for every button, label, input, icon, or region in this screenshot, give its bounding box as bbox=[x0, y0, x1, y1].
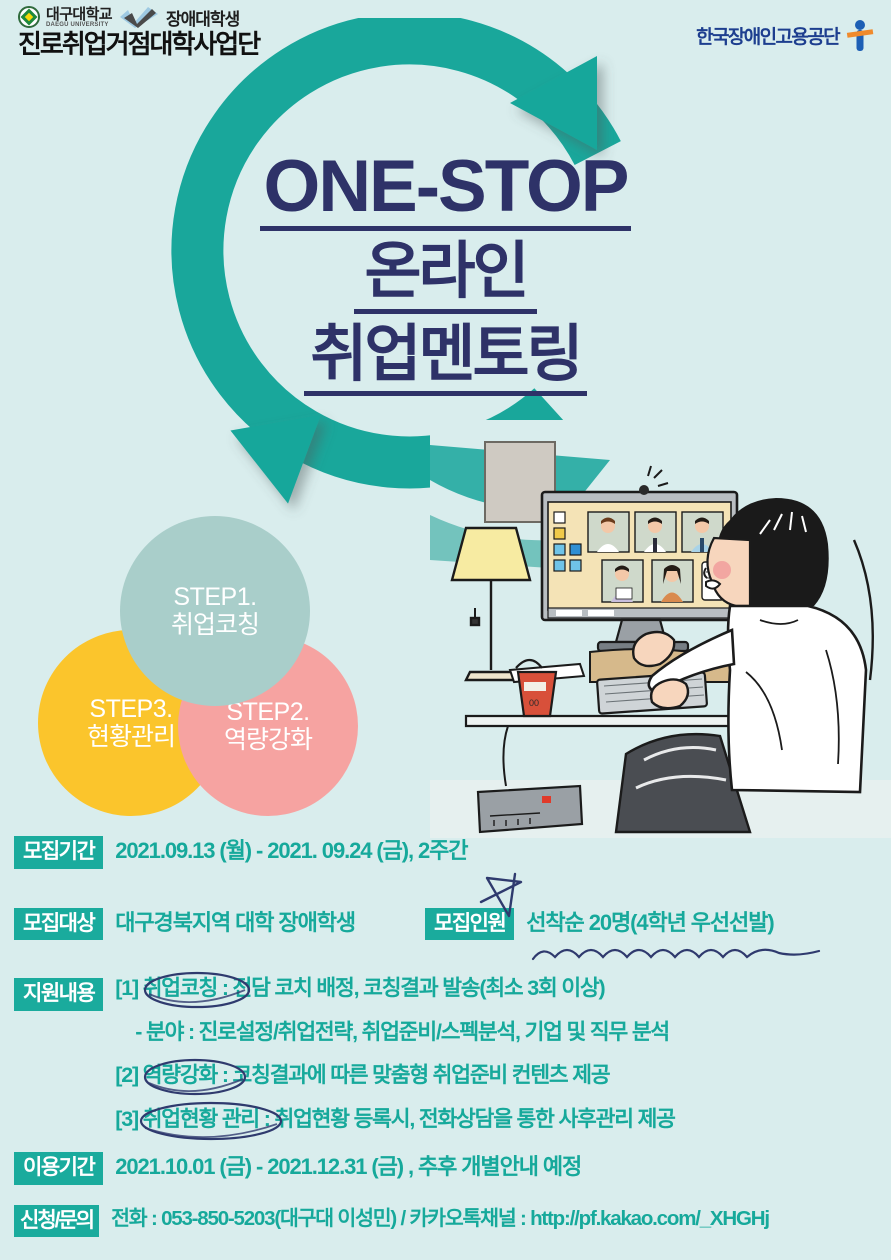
step-2-label-ko: 역량강화 bbox=[224, 726, 312, 755]
partner-label: 장애대학생 bbox=[166, 5, 239, 30]
value-apply-contact[interactable]: 전화 : 053-850-5203(대구대 이성민) / 카카오톡채널 : ht… bbox=[111, 1205, 769, 1231]
info-row-support: 지원내용 [1] 취업코칭 : 전담 코치 배정, 코칭결과 발송(최소 3회 … bbox=[0, 978, 891, 1130]
university-name: 대구대학교 DAEGU UNIVERSITY bbox=[46, 7, 112, 28]
title-line-mentoring: 취업멘토링 bbox=[304, 320, 586, 396]
title-line-one-stop: ONE-STOP bbox=[260, 152, 632, 231]
label-recruit-period: 모집기간 bbox=[14, 836, 103, 869]
value-recruit-quota: 선착순 20명(4학년 우선선발) bbox=[526, 908, 773, 936]
daegu-university-seal-icon bbox=[18, 6, 40, 28]
support-line-4: [3] 취업현황 관리 : 취업현황 등록시, 전화상담을 통한 사후관리 제공 bbox=[113, 1109, 674, 1131]
step-1-label-ko: 취업코칭 bbox=[171, 611, 259, 640]
title-line-online: 온라인 bbox=[354, 237, 536, 313]
university-name-ko: 대구대학교 bbox=[46, 7, 112, 22]
support-line-3: [2] 역량강화 : 코칭결과에 따른 맞춤형 취업준비 컨텐츠 제공 bbox=[113, 1065, 674, 1087]
value-usage-period: 2021.10.01 (금) - 2021.12.31 (금) , 추후 개별안… bbox=[115, 1152, 581, 1180]
step-1-label-en: STEP1. bbox=[173, 583, 256, 612]
info-row-quota: 모집인원 선착순 20명(4학년 우선선발) bbox=[425, 908, 774, 941]
info-row-period: 모집기간 2021.09.13 (월) - 2021. 09.24 (금), 2… bbox=[0, 836, 891, 869]
program-name: 진로취업거점대학사업단 bbox=[18, 31, 259, 58]
info-section: 모집기간 2021.09.13 (월) - 2021. 09.24 (금), 2… bbox=[0, 836, 891, 1237]
info-row-contact: 신청/문의 전화 : 053-850-5203(대구대 이성민) / 카카오톡채… bbox=[0, 1205, 891, 1238]
agency-name: 한국장애인고용공단 bbox=[696, 22, 839, 49]
info-row-usage: 이용기간 2021.10.01 (금) - 2021.12.31 (금) , 추… bbox=[0, 1152, 891, 1185]
hand-drawn-squiggle-underline bbox=[529, 941, 829, 970]
svg-text:00: 00 bbox=[529, 698, 539, 708]
label-support-content: 지원내용 bbox=[14, 978, 103, 1011]
university-name-en: DAEGU UNIVERSITY bbox=[46, 22, 112, 28]
label-recruit-quota: 모집인원 bbox=[425, 908, 514, 941]
label-apply-contact: 신청/문의 bbox=[14, 1205, 99, 1238]
label-recruit-target: 모집대상 bbox=[14, 908, 103, 941]
page-title: ONE-STOP 온라인 취업멘토링 bbox=[0, 152, 891, 396]
step-3-label-ko: 현황관리 bbox=[87, 723, 175, 752]
right-logo-group: 한국장애인고용공단 bbox=[696, 18, 875, 52]
step-circle-1: STEP1. 취업코칭 bbox=[120, 516, 310, 706]
check-mark-icon bbox=[118, 5, 160, 29]
step-3-label-en: STEP3. bbox=[89, 695, 172, 724]
left-logo-top-row: 대구대학교 DAEGU UNIVERSITY 장애대학생 bbox=[18, 4, 259, 30]
value-recruit-period: 2021.09.13 (월) - 2021. 09.24 (금), 2주간 bbox=[115, 836, 467, 864]
support-line-1: [1] 취업코칭 : 전담 코치 배정, 코칭결과 발송(최소 3회 이상) bbox=[113, 978, 674, 1000]
label-usage-period: 이용기간 bbox=[14, 1152, 103, 1185]
online-mentoring-illustration: 00 bbox=[430, 420, 891, 838]
info-row-target: 모집대상 대구경북지역 대학 장애학생 모집인원 선착순 20명(4학년 우선선… bbox=[0, 908, 891, 941]
poster-root: 대구대학교 DAEGU UNIVERSITY 장애대학생 진로취업거점대학사업단… bbox=[0, 0, 891, 1260]
support-content-lines: [1] 취업코칭 : 전담 코치 배정, 코칭결과 발송(최소 3회 이상) -… bbox=[113, 978, 674, 1130]
kead-person-mark-icon bbox=[845, 18, 875, 52]
left-logo-group: 대구대학교 DAEGU UNIVERSITY 장애대학생 진로취업거점대학사업단 bbox=[18, 4, 259, 58]
support-line-2: - 분야 : 진로설정/취업전략, 취업준비/스펙분석, 기업 및 직무 분석 bbox=[113, 1022, 674, 1044]
value-recruit-target: 대구경북지역 대학 장애학생 bbox=[115, 908, 355, 936]
